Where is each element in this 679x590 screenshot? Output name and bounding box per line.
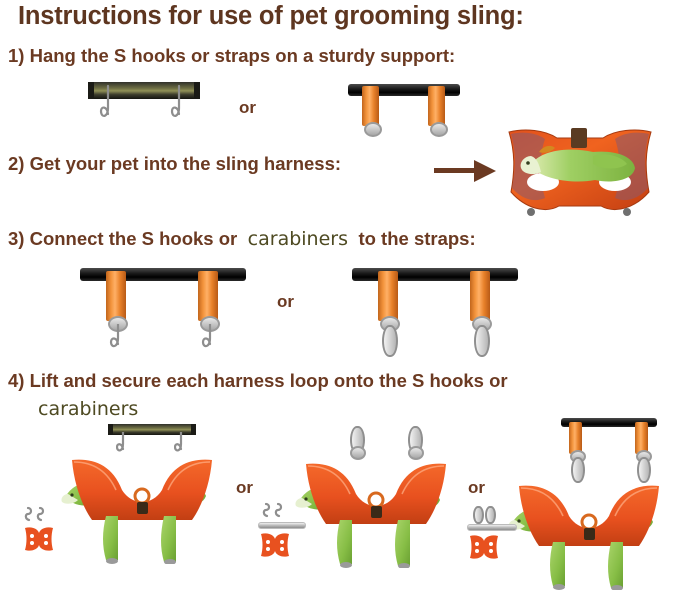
step-2-text: 2) Get your pet into the sling harness:: [8, 153, 341, 175]
step-4-carabiners-word: carabiners: [38, 398, 138, 420]
legend-harness-icon: [467, 534, 501, 560]
sling-with-dog: [286, 454, 466, 568]
legend-carabiner-icon: [485, 506, 496, 524]
carabiner-icon: [382, 325, 398, 357]
legend-carabiner-icon: [473, 506, 484, 524]
step-3-text-after: to the straps:: [358, 228, 475, 249]
legend-harness-icon: [22, 526, 56, 552]
step4-option-sling-with-carabiners: [286, 424, 466, 564]
step1-option-bar-with-straps: [348, 84, 460, 140]
step-3-carabiners-word: carabiners: [248, 228, 348, 250]
carabiner-icon: [474, 325, 490, 357]
legend-s-hook-pair-icon: [24, 506, 52, 524]
legend-s-hook-pair-icon: [262, 502, 290, 520]
step4-option-sling-on-bar-with-s-hooks: [52, 424, 232, 564]
step-3-text: 3) Connect the S hooks or carabiners to …: [8, 228, 476, 250]
s-hook-icon: [201, 324, 219, 360]
s-hook-icon: [99, 84, 117, 130]
legend-bar-icon: [467, 524, 517, 531]
step4-option-sling-on-bar-with-carabiners: [505, 418, 679, 564]
step4-or-separator-1: or: [236, 478, 253, 498]
step-3-text-before: 3) Connect the S hooks or: [8, 228, 237, 249]
ring-icon: [430, 122, 448, 137]
sling-with-dog: [52, 450, 232, 564]
s-hook-icon: [170, 84, 188, 130]
step3-option-straps-with-s-hooks: [80, 268, 246, 360]
step-4-text-before: 4) Lift and secure each harness loop ont…: [8, 370, 508, 392]
step-1-text: 1) Hang the S hooks or straps on a sturd…: [8, 45, 455, 67]
step4-or-separator-2: or: [468, 478, 485, 498]
step1-option-bar-with-s-hooks: [88, 82, 200, 132]
page-title: Instructions for use of pet grooming sli…: [18, 2, 668, 31]
step3-option-straps-with-carabiners: [352, 268, 518, 360]
step3-or-separator: or: [277, 292, 294, 312]
step2-pet-in-harness-photo: [495, 126, 665, 222]
step1-or-separator: or: [239, 98, 256, 118]
s-hook-icon: [109, 324, 127, 360]
step2-right-arrow-icon: [434, 160, 496, 182]
ring-icon: [364, 122, 382, 137]
legend-harness-icon: [258, 532, 292, 558]
sling-with-dog: [499, 476, 679, 590]
legend-bar-icon: [258, 522, 306, 529]
